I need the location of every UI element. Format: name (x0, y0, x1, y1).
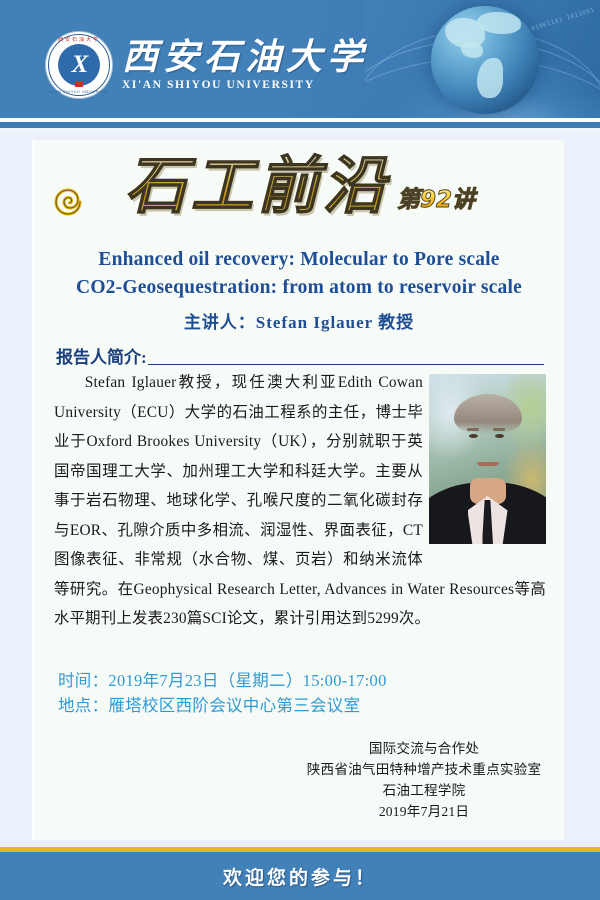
signature-line: 陕西省油气田特种增产技术重点实验室 (304, 759, 544, 780)
university-seal-icon: 西安石油大学 X XI AN SHIYOU UNIVERSITY (46, 32, 112, 98)
poster-footer: 欢迎您的参与！ (0, 852, 600, 900)
speaker-portrait (429, 374, 546, 544)
bio-body: Stefan Iglauer教授，现任澳大利亚Edith Cowan Unive… (54, 368, 546, 634)
lecture-title-line2: CO2-Geosequestration: from atom to reser… (34, 274, 564, 302)
poster-header: 01001101 10110010 01100101 11010100 西安石油… (0, 0, 600, 118)
event-time-label: 时间： (58, 671, 108, 690)
portrait-mouth (477, 462, 499, 466)
lecture-title-en: Enhanced oil recovery: Molecular to Pore… (34, 246, 564, 302)
university-name-block: 西安石油大学 XI'AN SHIYOU UNIVERSITY (122, 39, 368, 92)
bio-heading-rule (148, 364, 544, 365)
seal-monogram: X (46, 52, 112, 77)
portrait-eye-right (495, 434, 504, 438)
landmass (461, 42, 483, 58)
poster-body-panel: 石工前沿第92讲 Enhanced oil recovery: Molecula… (34, 140, 564, 840)
event-place-label: 地点： (58, 696, 108, 715)
globe-graphic: 01001101 10110010 01100101 11010100 (365, 0, 600, 118)
header-divider-light (0, 128, 600, 133)
lecture-number: 第92讲 (397, 180, 475, 214)
bio-heading-label: 报告人简介: (56, 343, 147, 368)
portrait-eye-left (469, 434, 478, 438)
bio-heading: 报告人简介: (56, 343, 544, 368)
series-title-block: 石工前沿第92讲 (34, 156, 564, 218)
seal-arc-top-text: 西安石油大学 (46, 36, 112, 43)
university-name-cn: 西安石油大学 (122, 39, 368, 75)
event-place: 地点：雁塔校区西阶会议中心第三会议室 (58, 693, 387, 718)
portrait-brow-right (493, 428, 505, 431)
seal-stamp (75, 81, 83, 87)
lecture-title-line1: Enhanced oil recovery: Molecular to Pore… (34, 246, 564, 274)
university-branding: 西安石油大学 X XI AN SHIYOU UNIVERSITY 西安石油大学 … (46, 32, 368, 98)
landmass (477, 58, 503, 98)
signature-line: 国际交流与合作处 (304, 738, 544, 759)
speaker-line: 主讲人：Stefan Iglauer 教授 (34, 308, 564, 333)
organizer-signature: 国际交流与合作处 陕西省油气田特种增产技术重点实验室 石油工程学院 2019年7… (304, 738, 544, 822)
series-title-cn: 石工前沿 (123, 156, 391, 218)
globe-icon (431, 6, 539, 114)
event-time-value: 2019年7月23日（星期二）15:00-17:00 (108, 671, 386, 690)
signature-line: 石油工程学院 (304, 780, 544, 801)
university-name-en: XI'AN SHIYOU UNIVERSITY (122, 80, 368, 92)
lecture-poster: 01001101 10110010 01100101 11010100 西安石油… (0, 0, 600, 900)
event-place-value: 雁塔校区西阶会议中心第三会议室 (108, 696, 360, 715)
welcome-text: 欢迎您的参与！ (223, 863, 377, 890)
spiral-icon (52, 186, 84, 218)
portrait-brow-left (467, 428, 479, 431)
signature-date: 2019年7月21日 (304, 801, 544, 822)
seal-arc-bottom-text: XI AN SHIYOU UNIVERSITY (46, 90, 112, 94)
event-time: 时间：2019年7月23日（星期二）15:00-17:00 (58, 668, 387, 693)
event-meta: 时间：2019年7月23日（星期二）15:00-17:00 地点：雁塔校区西阶会… (58, 668, 387, 718)
